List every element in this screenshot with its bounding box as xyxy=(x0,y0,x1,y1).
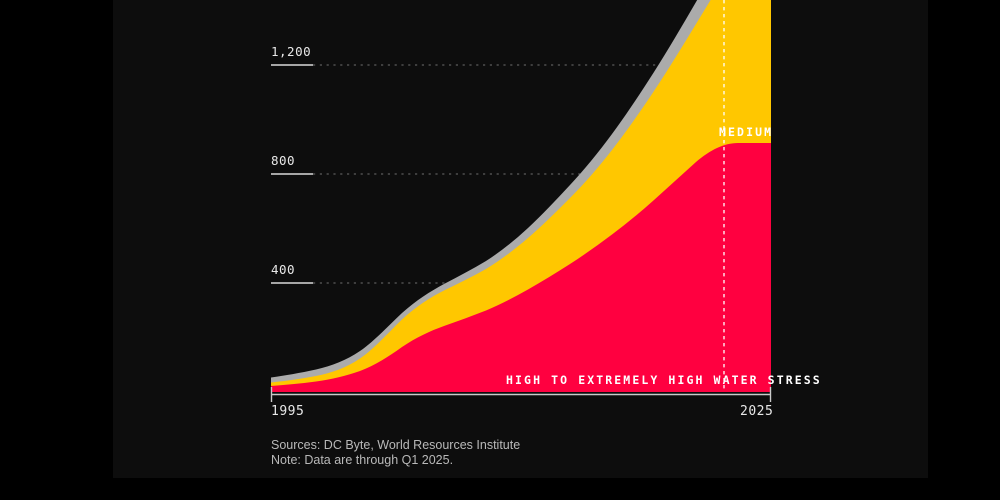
y-tick-label-1200: 1,200 xyxy=(271,44,311,59)
stacked-area-chart xyxy=(0,0,1000,500)
footnote-sources: Sources: DC Byte, World Resources Instit… xyxy=(271,438,520,453)
y-tick-label-400: 400 xyxy=(271,262,295,277)
footnotes: Sources: DC Byte, World Resources Instit… xyxy=(271,438,520,468)
chart-screenshot: 1,200 800 400 1995 2025 MEDIUM HIGH TO E… xyxy=(0,0,1000,500)
y-tick-label-800: 800 xyxy=(271,153,295,168)
band-label-medium: MEDIUM xyxy=(719,125,773,139)
footnote-note: Note: Data are through Q1 2025. xyxy=(271,453,520,468)
x-tick-label-2025: 2025 xyxy=(740,404,773,419)
band-label-high-water-stress: HIGH TO EXTREMELY HIGH WATER STRESS xyxy=(506,373,822,387)
x-tick-label-1995: 1995 xyxy=(271,404,304,419)
